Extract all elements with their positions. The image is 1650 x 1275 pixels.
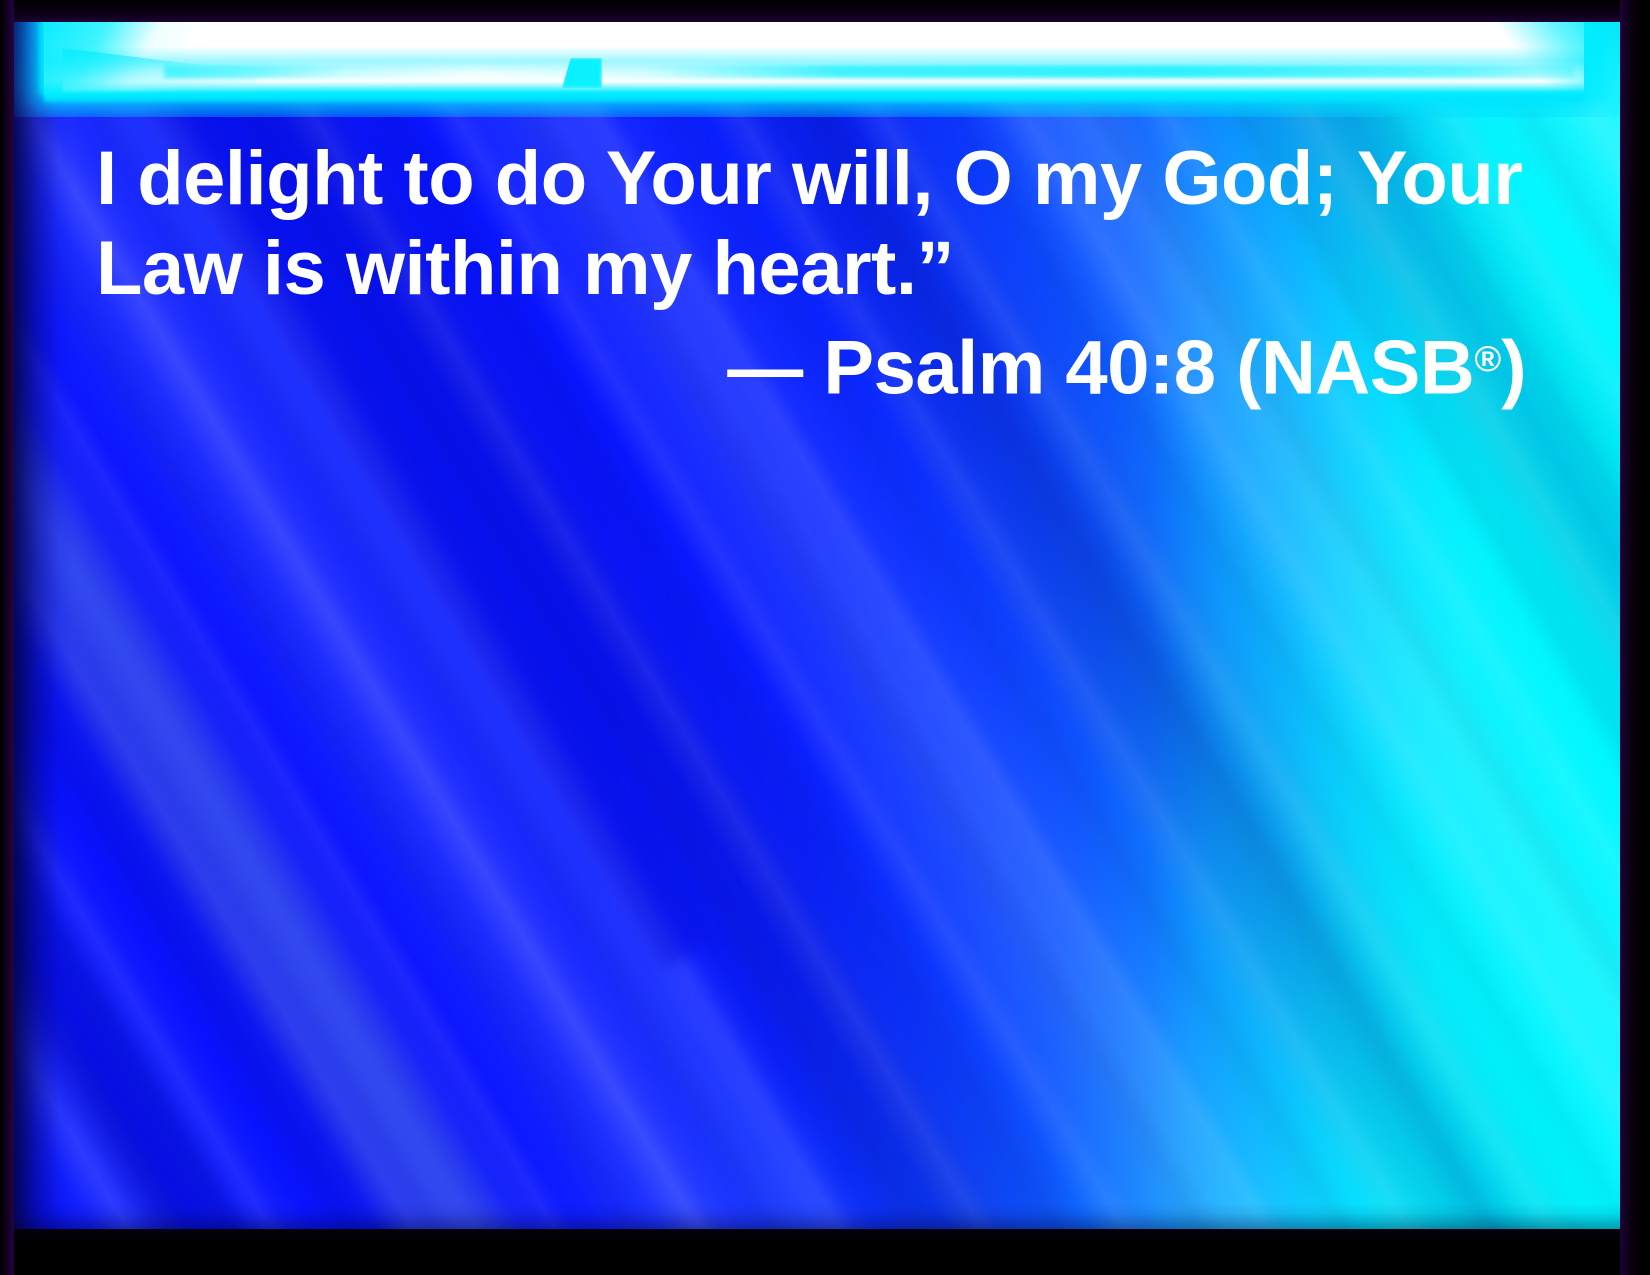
top-glow-bar-right-bevel xyxy=(1484,22,1604,102)
frame-border-bottom xyxy=(0,1229,1650,1275)
verse-attribution: — Psalm 40:8 (NASB®) xyxy=(96,314,1536,414)
slide-background: I delight to do Your will, O my God; You… xyxy=(14,22,1620,1229)
verse-text: I delight to do Your will, O my God; You… xyxy=(96,134,1536,314)
attribution-closing-paren: ) xyxy=(1501,326,1526,411)
top-glow-bar-white xyxy=(44,22,1584,96)
background-bottom-edge-shadow xyxy=(14,1203,1620,1229)
verse-slide: I delight to do Your will, O my God; You… xyxy=(0,0,1650,1275)
top-glow-bar-lower-lip xyxy=(44,92,1584,104)
attribution-reference: — Psalm 40:8 (NASB xyxy=(727,326,1474,411)
frame-border-left xyxy=(0,0,14,1275)
top-glow-bar xyxy=(14,22,1620,117)
background-left-edge-shadow xyxy=(14,22,74,1229)
top-glow-bar-cyan-stripe xyxy=(164,65,1574,78)
frame-border-top xyxy=(0,0,1650,22)
frame-border-right xyxy=(1620,0,1650,1275)
registered-trademark-icon: ® xyxy=(1474,338,1501,379)
